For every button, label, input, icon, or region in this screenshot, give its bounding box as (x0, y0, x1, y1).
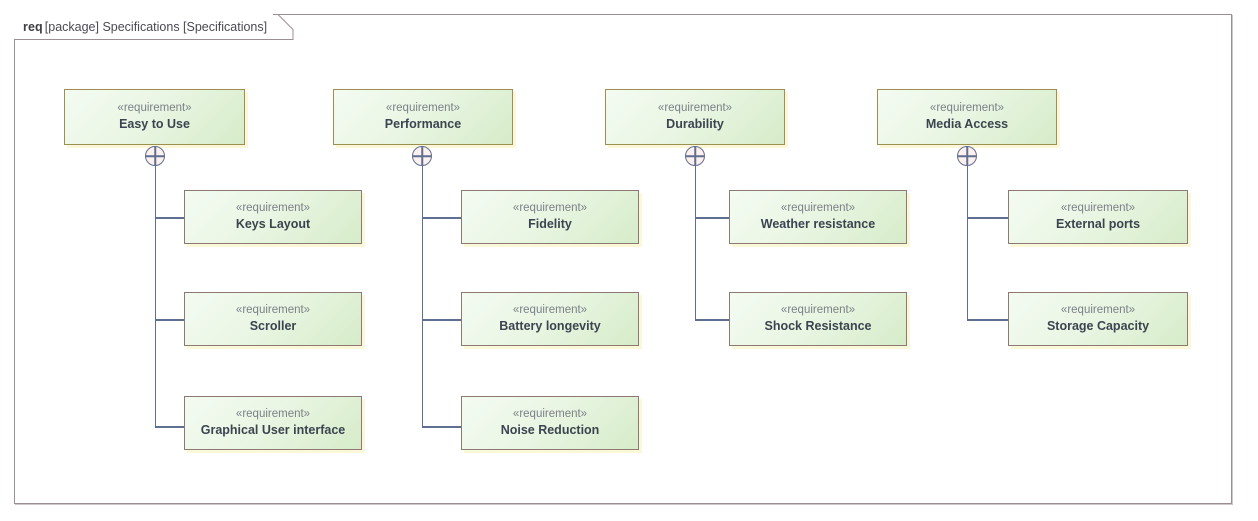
frame-header-label: req [package] Specifications [Specificat… (14, 14, 273, 39)
stereotype-label: «requirement» (117, 101, 191, 115)
requirement-box-external-ports[interactable]: «requirement» External ports (1008, 190, 1188, 244)
stereotype-label: «requirement» (386, 101, 460, 115)
stereotype-label: «requirement» (236, 303, 310, 317)
stereotype-label: «requirement» (781, 201, 855, 215)
requirement-name: Easy to Use (119, 117, 190, 133)
requirement-name: Weather resistance (761, 217, 875, 233)
requirement-box-graphical-user-interface[interactable]: «requirement» Graphical User interface (184, 396, 362, 450)
stereotype-label: «requirement» (236, 407, 310, 421)
requirement-box-scroller[interactable]: «requirement» Scroller (184, 292, 362, 346)
requirement-box-keys-layout[interactable]: «requirement» Keys Layout (184, 190, 362, 244)
stereotype-label: «requirement» (513, 407, 587, 421)
requirement-box-easy-to-use[interactable]: «requirement» Easy to Use (64, 89, 245, 145)
stereotype-label: «requirement» (658, 101, 732, 115)
requirement-name: Storage Capacity (1047, 319, 1149, 335)
stereotype-label: «requirement» (1061, 303, 1135, 317)
requirement-name: Graphical User interface (201, 423, 346, 439)
requirement-name: Shock Resistance (765, 319, 872, 335)
stereotype-label: «requirement» (930, 101, 1004, 115)
frame-qualifier: [package] Specifications [Specifications… (45, 20, 267, 34)
requirement-name: Scroller (250, 319, 297, 335)
stereotype-label: «requirement» (1061, 201, 1135, 215)
connector-branch (155, 319, 185, 321)
containment-crosshair-icon (957, 146, 977, 166)
requirement-box-storage-capacity[interactable]: «requirement» Storage Capacity (1008, 292, 1188, 346)
stereotype-label: «requirement» (513, 201, 587, 215)
diagram-canvas: req [package] Specifications [Specificat… (0, 0, 1258, 521)
requirement-box-durability[interactable]: «requirement» Durability (605, 89, 785, 145)
requirement-box-noise-reduction[interactable]: «requirement» Noise Reduction (461, 396, 639, 450)
connector-branch (155, 217, 185, 219)
requirement-box-fidelity[interactable]: «requirement» Fidelity (461, 190, 639, 244)
connector-branch (695, 319, 730, 321)
containment-crosshair-icon (145, 146, 165, 166)
connector-branch (967, 319, 1009, 321)
requirement-name: Noise Reduction (501, 423, 600, 439)
connector-trunk (422, 165, 424, 427)
connector-trunk (155, 165, 157, 427)
stereotype-label: «requirement» (513, 303, 587, 317)
requirement-box-media-access[interactable]: «requirement» Media Access (877, 89, 1057, 145)
requirement-box-weather-resistance[interactable]: «requirement» Weather resistance (729, 190, 907, 244)
connector-trunk (967, 165, 969, 320)
connector-branch (967, 217, 1009, 219)
frame-keyword: req (23, 20, 43, 34)
connector-branch (422, 426, 462, 428)
requirement-box-shock-resistance[interactable]: «requirement» Shock Resistance (729, 292, 907, 346)
connector-branch (695, 217, 730, 219)
containment-crosshair-icon (412, 146, 432, 166)
requirement-name: Keys Layout (236, 217, 310, 233)
requirement-name: Performance (385, 117, 461, 133)
containment-crosshair-icon (685, 146, 705, 166)
requirement-name: Durability (666, 117, 724, 133)
requirement-box-battery-longevity[interactable]: «requirement» Battery longevity (461, 292, 639, 346)
connector-branch (422, 319, 462, 321)
stereotype-label: «requirement» (236, 201, 310, 215)
requirement-box-performance[interactable]: «requirement» Performance (333, 89, 513, 145)
connector-branch (155, 426, 185, 428)
requirement-name: Battery longevity (499, 319, 600, 335)
requirement-name: External ports (1056, 217, 1140, 233)
stereotype-label: «requirement» (781, 303, 855, 317)
requirement-name: Fidelity (528, 217, 572, 233)
connector-trunk (695, 165, 697, 320)
connector-branch (422, 217, 462, 219)
requirement-name: Media Access (926, 117, 1008, 133)
